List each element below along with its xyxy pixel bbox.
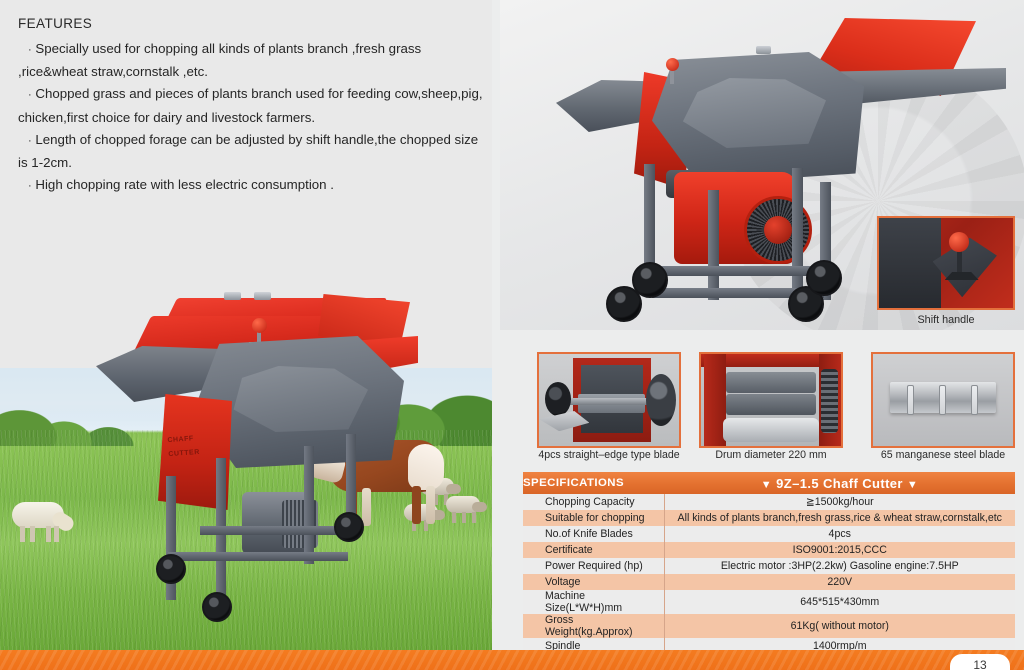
spec-value: 61Kg( without motor) xyxy=(664,614,1015,638)
bullet-icon: · xyxy=(28,44,32,56)
spec-value: ISO9001:2015,CCC xyxy=(664,542,1015,558)
sheep-animal xyxy=(8,500,72,540)
caption-thumbnail-1: 4pcs straight–edge type blade xyxy=(529,449,689,461)
table-row: Voltage 220V xyxy=(523,574,1015,590)
spec-header-row: SPECIFICATIONS ▼ 9Z–1.5 Chaff Cutter ▼ xyxy=(523,472,1015,494)
feature-item-3: · Length of chopped forage can be adjust… xyxy=(18,129,484,174)
shift-handle-inset-photo xyxy=(877,216,1015,310)
footer-bar xyxy=(0,650,1024,670)
bullet-icon: · xyxy=(28,180,32,192)
shift-handle-knob xyxy=(252,318,267,333)
spec-key: Voltage xyxy=(523,574,664,590)
caster-wheel xyxy=(156,554,186,584)
feature-item-2: · Chopped grass and pieces of plants bra… xyxy=(18,83,484,128)
spec-key: Chopping Capacity xyxy=(523,494,664,510)
thumbnail-steel-blade xyxy=(871,352,1015,448)
spec-key: Suitable for chopping xyxy=(523,510,664,526)
page-number-tab: 13 xyxy=(950,654,1010,670)
caster-wheel xyxy=(806,260,842,296)
specifications-table: SPECIFICATIONS ▼ 9Z–1.5 Chaff Cutter ▼ C… xyxy=(523,472,1015,654)
bullet-icon: · xyxy=(28,89,32,101)
thumbnail-drum xyxy=(699,352,843,448)
bullet-icon: · xyxy=(28,135,32,147)
feature-text-3: Length of chopped forage can be adjusted… xyxy=(18,132,478,170)
table-row: Chopping Capacity ≧1500kg/hour xyxy=(523,494,1015,510)
caster-wheel xyxy=(202,592,232,622)
spec-key: Power Required (hp) xyxy=(523,558,664,574)
feature-text-4: High chopping rate with less electric co… xyxy=(35,177,334,192)
caption-thumbnail-2: Drum diameter 220 mm xyxy=(691,449,851,461)
spec-value: All kinds of plants branch,fresh grass,r… xyxy=(664,510,1015,526)
feature-text-2: Chopped grass and pieces of plants branc… xyxy=(18,86,483,124)
spec-key: Gross Weight(kg.Approx) xyxy=(523,614,664,638)
spec-value: 4pcs xyxy=(664,526,1015,542)
spec-value: 645*515*430mm xyxy=(664,590,1015,614)
table-row: Suitable for chopping All kinds of plant… xyxy=(523,510,1015,526)
caster-wheel xyxy=(632,262,668,298)
spec-value: Electric motor :3HP(2.2kw) Gasoline engi… xyxy=(664,558,1015,574)
triangle-right-icon: ▼ xyxy=(907,479,918,491)
spec-key: Certificate xyxy=(523,542,664,558)
table-row: Power Required (hp) Electric motor :3HP(… xyxy=(523,558,1015,574)
model-name: 9Z–1.5 Chaff Cutter xyxy=(776,476,903,491)
left-panel: FEATURES · Specially used for chopping a… xyxy=(0,0,492,650)
table-row: Gross Weight(kg.Approx) 61Kg( without mo… xyxy=(523,614,1015,638)
table-row: No.of Knife Blades 4pcs xyxy=(523,526,1015,542)
spec-key: Machine Size(L*W*H)mm xyxy=(523,590,664,614)
spec-value: 220V xyxy=(664,574,1015,590)
features-section: FEATURES · Specially used for chopping a… xyxy=(18,16,484,197)
spec-header-label: SPECIFICATIONS xyxy=(523,472,664,494)
feature-text-1: Specially used for chopping all kinds of… xyxy=(18,41,421,79)
caption-shift-handle: Shift handle xyxy=(877,314,1015,326)
catalog-page: FEATURES · Specially used for chopping a… xyxy=(0,0,1024,670)
features-heading: FEATURES xyxy=(18,16,484,31)
triangle-left-icon: ▼ xyxy=(761,479,772,491)
shift-handle-knob xyxy=(949,232,969,252)
feature-item-1: · Specially used for chopping all kinds … xyxy=(18,38,484,83)
spec-header-model: ▼ 9Z–1.5 Chaff Cutter ▼ xyxy=(664,472,1015,494)
shift-handle-knob xyxy=(666,58,679,71)
table-row: Machine Size(L*W*H)mm 645*515*430mm xyxy=(523,590,1015,614)
goat-animal xyxy=(446,496,486,522)
table-row: Certificate ISO9001:2015,CCC xyxy=(523,542,1015,558)
thumbnail-blade-assembly xyxy=(537,352,681,448)
feature-item-4: · High chopping rate with less electric … xyxy=(18,174,484,197)
page-number: 13 xyxy=(973,658,986,670)
chaff-cutter-electric-photo: CHAFFCUTTER xyxy=(96,286,416,626)
spec-value: ≧1500kg/hour xyxy=(664,494,1015,510)
caster-wheel xyxy=(334,512,364,542)
caption-thumbnail-3: 65 manganese steel blade xyxy=(863,449,1023,461)
spec-key: No.of Knife Blades xyxy=(523,526,664,542)
